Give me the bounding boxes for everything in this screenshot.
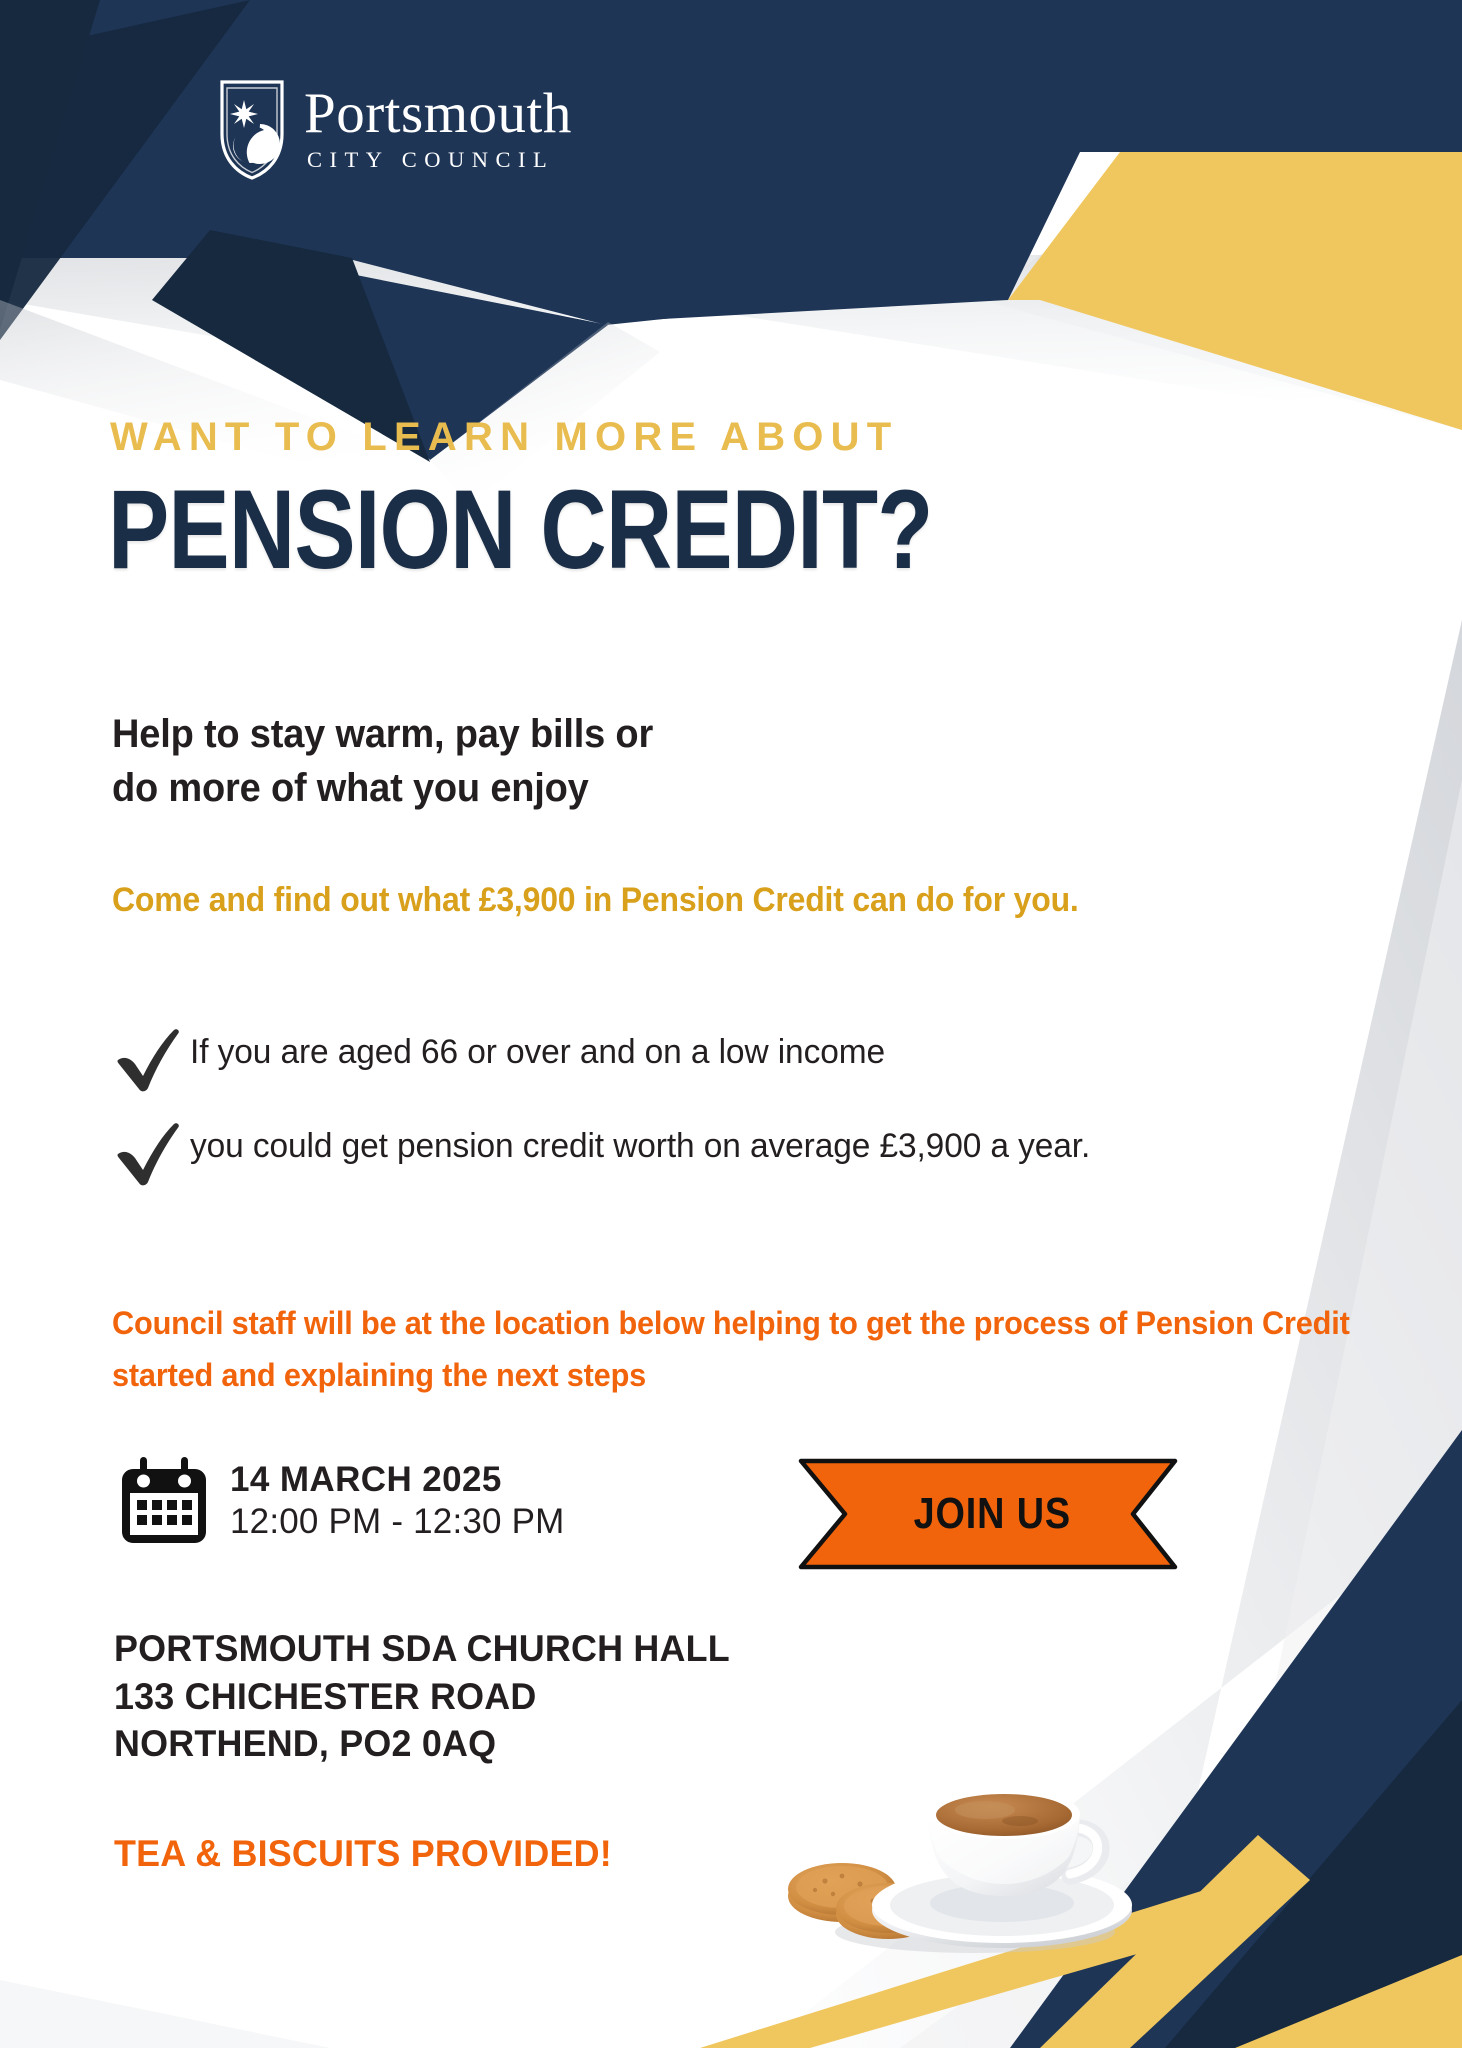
orange-paragraph: Council staff will be at the location be…	[112, 1298, 1360, 1402]
venue-address: PORTSMOUTH SDA CHURCH HALL 133 CHICHESTE…	[114, 1625, 730, 1768]
benefit-list: If you are aged 66 or over and on a low …	[112, 1028, 1342, 1216]
checkmark-icon	[112, 1022, 190, 1096]
join-us-ribbon[interactable]: JOIN US	[793, 1455, 1183, 1573]
venue-line-3: NORTHEND, PO2 0AQ	[114, 1720, 730, 1768]
subheading-line-2: do more of what you enjoy	[112, 761, 653, 815]
calendar-icon	[118, 1455, 210, 1547]
portsmouth-city-council-logo: Portsmouth CITY COUNCIL	[218, 78, 572, 182]
list-item: you could get pension credit worth on av…	[112, 1122, 1342, 1190]
kicker-text: WANT TO LEARN MORE ABOUT	[110, 415, 898, 460]
checkmark-icon	[112, 1116, 190, 1190]
refreshments-note: TEA & BISCUITS PROVIDED!	[114, 1833, 612, 1875]
page-title: PENSION CREDIT?	[108, 474, 933, 586]
event-datetime: 14 MARCH 2025 12:00 PM - 12:30 PM	[118, 1455, 565, 1547]
poster-content: WANT TO LEARN MORE ABOUT PENSION CREDIT?…	[0, 0, 1462, 2048]
subheading-line-1: Help to stay warm, pay bills or	[112, 707, 653, 761]
poster-canvas: Portsmouth CITY COUNCIL WANT TO LEARN MO…	[0, 0, 1462, 2048]
event-time: 12:00 PM - 12:30 PM	[230, 1502, 565, 1542]
tea-cup-and-biscuits-photo	[770, 1718, 1170, 1968]
list-item: If you are aged 66 or over and on a low …	[112, 1028, 1342, 1096]
subheading: Help to stay warm, pay bills or do more …	[112, 707, 653, 815]
venue-line-2: 133 CHICHESTER ROAD	[114, 1673, 730, 1721]
logo-subtitle: CITY COUNCIL	[307, 147, 572, 173]
list-item-label: If you are aged 66 or over and on a low …	[190, 1028, 885, 1077]
event-date: 14 MARCH 2025	[230, 1460, 565, 1500]
join-us-label: JOIN US	[820, 1455, 1155, 1573]
logo-wordmark: Portsmouth	[304, 87, 572, 141]
portsmouth-star-crescent-shield-icon	[218, 78, 286, 182]
venue-line-1: PORTSMOUTH SDA CHURCH HALL	[114, 1625, 730, 1673]
list-item-label: you could get pension credit worth on av…	[190, 1122, 1090, 1171]
gold-paragraph: Come and find out what £3,900 in Pension…	[112, 873, 1306, 928]
